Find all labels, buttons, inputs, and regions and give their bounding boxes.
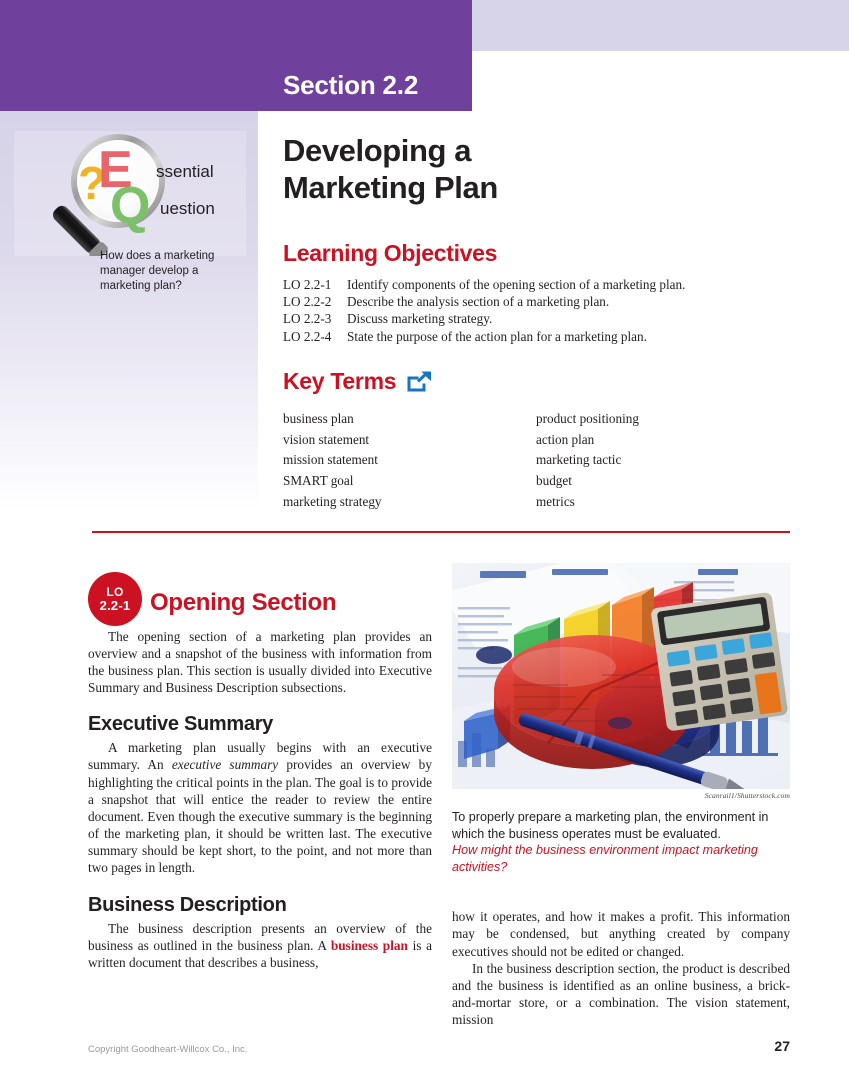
section-label: Section 2.2 — [283, 70, 418, 101]
photo-credit: Scanrail1/Shutterstock.com — [452, 791, 790, 800]
share-external-link-icon[interactable] — [406, 371, 432, 392]
key-terms-heading: Key Terms — [283, 368, 396, 395]
svg-text:Q: Q — [110, 177, 150, 235]
key-terms-heading-row: Key Terms — [283, 368, 432, 395]
opening-section-heading: Opening Section — [150, 589, 336, 617]
learning-objectives-list: LO 2.2-1 Identify components of the open… — [283, 276, 793, 345]
key-term: budget — [536, 471, 753, 492]
footer-copyright: Copyright Goodheart-Willcox Co., Inc. — [88, 1044, 247, 1055]
key-term: business plan — [283, 409, 536, 430]
lo-badge-line2: 2.2-1 — [100, 599, 131, 612]
figure-caption-question: How might the business environment impac… — [452, 842, 790, 875]
section-divider-rule — [92, 531, 790, 533]
footer-page-number: 27 — [774, 1038, 790, 1054]
learning-objective-desc: Discuss marketing strategy. — [347, 310, 793, 327]
key-terms-column-2: product positioning action plan marketin… — [536, 409, 753, 513]
page-title-line1: Developing a — [283, 133, 471, 168]
executive-summary-heading: Executive Summary — [88, 713, 432, 736]
right-column-body: how it operates, and how it makes a prof… — [452, 908, 790, 1028]
essential-question-card: ? E Q ssential uestion — [14, 131, 246, 256]
svg-text:ssential: ssential — [156, 162, 214, 181]
learning-objective-item: LO 2.2-1 Identify components of the open… — [283, 276, 793, 293]
business-description-heading: Business Description — [88, 894, 432, 917]
body-column-right: Scanrail1/Shutterstock.com To properly p… — [452, 563, 790, 1028]
essential-question-sidebar: ? E Q ssential uestion How does a market… — [0, 111, 258, 511]
page-title-line2: Marketing Plan — [283, 170, 498, 205]
key-term: marketing strategy — [283, 492, 536, 513]
essential-question-logo-icon: ? E Q ssential uestion — [14, 131, 246, 256]
learning-objective-desc: Identify components of the opening secti… — [347, 276, 793, 293]
header-band-light — [472, 0, 849, 51]
body-column-left: LO 2.2-1 Opening Section The opening sec… — [88, 572, 432, 971]
figure-caption: To properly prepare a marketing plan, th… — [452, 809, 790, 875]
key-term: metrics — [536, 492, 753, 513]
learning-objective-item: LO 2.2-2 Describe the analysis section o… — [283, 293, 793, 310]
right-paragraph-2: In the business description section, the… — [452, 960, 790, 1028]
textbook-page: Section 2.2 — [0, 0, 849, 1087]
learning-objective-item: LO 2.2-4 State the purpose of the action… — [283, 328, 793, 345]
essential-question-text: How does a marketing manager develop a m… — [100, 249, 250, 294]
lo-badge: LO 2.2-1 — [88, 572, 142, 626]
key-term: vision statement — [283, 430, 536, 451]
right-paragraph-1: how it operates, and how it makes a prof… — [452, 908, 790, 959]
exec-term-italic: executive summary — [172, 757, 278, 772]
figure-caption-text: To properly prepare a marketing plan, th… — [452, 810, 768, 841]
key-term: mission statement — [283, 450, 536, 471]
learning-objective-code: LO 2.2-2 — [283, 293, 347, 310]
page-title: Developing aMarketing Plan — [283, 132, 763, 206]
opening-section-paragraph: The opening section of a marketing plan … — [88, 628, 432, 696]
learning-objective-item: LO 2.2-3 Discuss marketing strategy. — [283, 310, 793, 327]
key-term: marketing tactic — [536, 450, 753, 471]
business-description-paragraph: The business description presents an ove… — [88, 920, 432, 971]
key-term: action plan — [536, 430, 753, 451]
key-terms-columns: business plan vision statement mission s… — [283, 409, 753, 513]
key-term: SMART goal — [283, 471, 536, 492]
learning-objective-code: LO 2.2-3 — [283, 310, 347, 327]
learning-objective-code: LO 2.2-1 — [283, 276, 347, 293]
executive-summary-paragraph: A marketing plan usually begins with an … — [88, 739, 432, 876]
key-terms-column-1: business plan vision statement mission s… — [283, 409, 536, 513]
learning-objective-desc: State the purpose of the action plan for… — [347, 328, 793, 345]
learning-objective-code: LO 2.2-4 — [283, 328, 347, 345]
svg-text:uestion: uestion — [160, 199, 215, 218]
exec-text-b: provides an overview by highlighting the… — [88, 757, 432, 875]
bd-key-term: business plan — [331, 938, 408, 953]
key-term: product positioning — [536, 409, 753, 430]
learning-objective-desc: Describe the analysis section of a marke… — [347, 293, 793, 310]
learning-objectives-heading: Learning Objectives — [283, 240, 497, 267]
figure-photo — [452, 563, 790, 789]
